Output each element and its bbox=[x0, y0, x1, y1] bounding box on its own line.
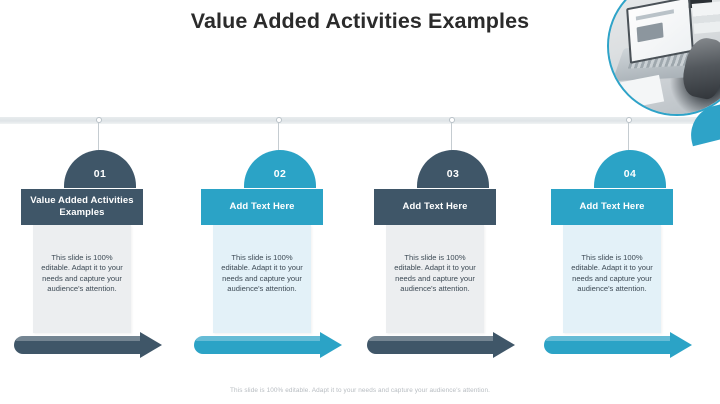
arrow-gloss bbox=[16, 336, 142, 341]
step-body-text: This slide is 100% editable. Adapt it to… bbox=[563, 225, 661, 333]
arrow-head-icon bbox=[140, 332, 162, 358]
step-arrow bbox=[14, 332, 177, 358]
arrow-gloss bbox=[546, 336, 672, 341]
footer-note: This slide is 100% editable. Adapt it to… bbox=[0, 387, 720, 394]
step-body-text: This slide is 100% editable. Adapt it to… bbox=[33, 225, 131, 333]
arrow-head-icon bbox=[670, 332, 692, 358]
step-heading: Add Text Here bbox=[374, 189, 496, 225]
step-arrow bbox=[544, 332, 707, 358]
arrow-head-icon bbox=[320, 332, 342, 358]
step-number-badge: 02 bbox=[244, 150, 316, 188]
step-arrow bbox=[194, 332, 357, 358]
timeline-node-icon bbox=[449, 117, 455, 123]
slide-canvas: Value Added Activities Examples 01 Value… bbox=[0, 0, 720, 404]
timeline-connector-line bbox=[98, 123, 99, 151]
step-item-02[interactable]: 02 Add Text Here This slide is 100% edit… bbox=[190, 0, 366, 404]
step-heading: Add Text Here bbox=[201, 189, 323, 225]
step-item-03[interactable]: 03 Add Text Here This slide is 100% edit… bbox=[363, 0, 539, 404]
step-number-badge: 04 bbox=[594, 150, 666, 188]
timeline-node-icon bbox=[276, 117, 282, 123]
arrow-gloss bbox=[196, 336, 322, 341]
timeline-connector-line bbox=[278, 123, 279, 151]
step-body-text: This slide is 100% editable. Adapt it to… bbox=[213, 225, 311, 333]
step-number-badge: 01 bbox=[64, 150, 136, 188]
step-heading: Value Added Activities Examples bbox=[21, 189, 143, 225]
step-item-01[interactable]: 01 Value Added Activities Examples This … bbox=[10, 0, 186, 404]
arrow-head-icon bbox=[493, 332, 515, 358]
timeline-node-icon bbox=[626, 117, 632, 123]
timeline-connector-line bbox=[451, 123, 452, 151]
step-body-text: This slide is 100% editable. Adapt it to… bbox=[386, 225, 484, 333]
timeline-node-icon bbox=[96, 117, 102, 123]
timeline-connector-line bbox=[628, 123, 629, 151]
step-item-04[interactable]: 04 Add Text Here This slide is 100% edit… bbox=[540, 0, 716, 404]
arrow-gloss bbox=[369, 336, 495, 341]
step-arrow bbox=[367, 332, 530, 358]
step-heading: Add Text Here bbox=[551, 189, 673, 225]
step-number-badge: 03 bbox=[417, 150, 489, 188]
